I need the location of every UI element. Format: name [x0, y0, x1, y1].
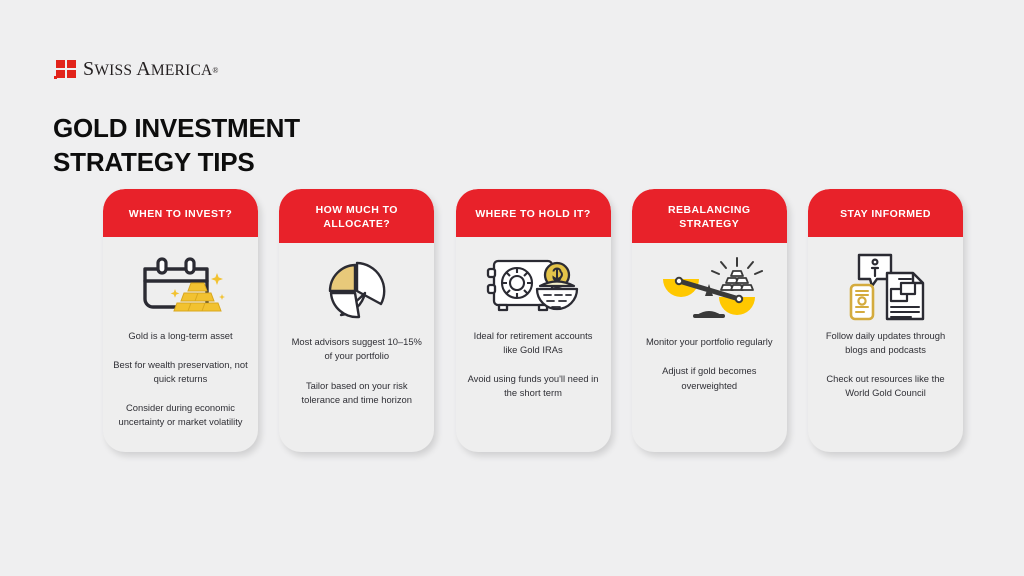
- tip-card-how-much-to-allocate[interactable]: HOW MUCH TO ALLOCATE? Most advisors sugg…: [279, 189, 434, 452]
- tip-card-rebalancing-strategy[interactable]: REBALANCING STRATEGY: [632, 189, 787, 452]
- card-bullet: Avoid using funds you'll need in the sho…: [466, 372, 601, 400]
- tip-card-where-to-hold-it[interactable]: WHERE TO HOLD IT?: [456, 189, 611, 452]
- card-bullet: Ideal for retirement accounts like Gold …: [466, 329, 601, 357]
- card-bullet: Consider during economic uncertainty or …: [113, 401, 248, 429]
- tip-card-stay-informed[interactable]: STAY INFORMED: [808, 189, 963, 452]
- pie-chart-allocation-icon: [279, 243, 434, 335]
- card-body: Most advisors suggest 10–15% of your por…: [279, 335, 434, 452]
- brand-name: SWISS AMERICA®: [83, 59, 219, 79]
- card-bullet: Follow daily updates through blogs and p…: [818, 329, 953, 357]
- tip-card-when-to-invest[interactable]: WHEN TO INVEST?: [103, 189, 258, 452]
- card-bullet: Monitor your portfolio regularly: [642, 335, 777, 349]
- registered-mark: ®: [212, 66, 218, 75]
- card-header: HOW MUCH TO ALLOCATE?: [279, 189, 434, 243]
- brand-name-wiss: WISS: [94, 62, 136, 79]
- card-header: STAY INFORMED: [808, 189, 963, 237]
- card-body: Gold is a long-term asset Best for wealt…: [103, 329, 258, 452]
- card-header: WHERE TO HOLD IT?: [456, 189, 611, 237]
- safe-vault-coins-icon: [456, 237, 611, 329]
- page-title-line2: STRATEGY TIPS: [53, 146, 473, 179]
- tips-card-row: WHEN TO INVEST?: [103, 189, 963, 452]
- card-bullet: Check out resources like the World Gold …: [818, 372, 953, 400]
- card-bullet: Best for wealth preservation, not quick …: [113, 358, 248, 386]
- card-body: Follow daily updates through blogs and p…: [808, 329, 963, 452]
- card-bullet: Gold is a long-term asset: [113, 329, 248, 343]
- swiss-america-squares-icon: [54, 58, 78, 80]
- brand-name-merica: MERICA: [151, 62, 212, 79]
- card-bullet: Tailor based on your risk tolerance and …: [289, 379, 424, 407]
- balance-scale-gold-icon: [632, 243, 787, 335]
- news-info-document-icon: [808, 237, 963, 329]
- card-bullet: Adjust if gold becomes overweighted: [642, 364, 777, 392]
- page-title-line1: GOLD INVESTMENT: [53, 113, 300, 143]
- card-body: Ideal for retirement accounts like Gold …: [456, 329, 611, 452]
- card-header: REBALANCING STRATEGY: [632, 189, 787, 243]
- brand-name-s: S: [83, 58, 94, 80]
- card-bullet: Most advisors suggest 10–15% of your por…: [289, 335, 424, 363]
- brand-name-a: A: [136, 58, 151, 80]
- brand-logo: SWISS AMERICA®: [54, 56, 219, 82]
- page-title: GOLD INVESTMENT STRATEGY TIPS: [53, 112, 473, 179]
- calendar-gold-bars-icon: [103, 237, 258, 329]
- card-body: Monitor your portfolio regularly Adjust …: [632, 335, 787, 452]
- card-header: WHEN TO INVEST?: [103, 189, 258, 237]
